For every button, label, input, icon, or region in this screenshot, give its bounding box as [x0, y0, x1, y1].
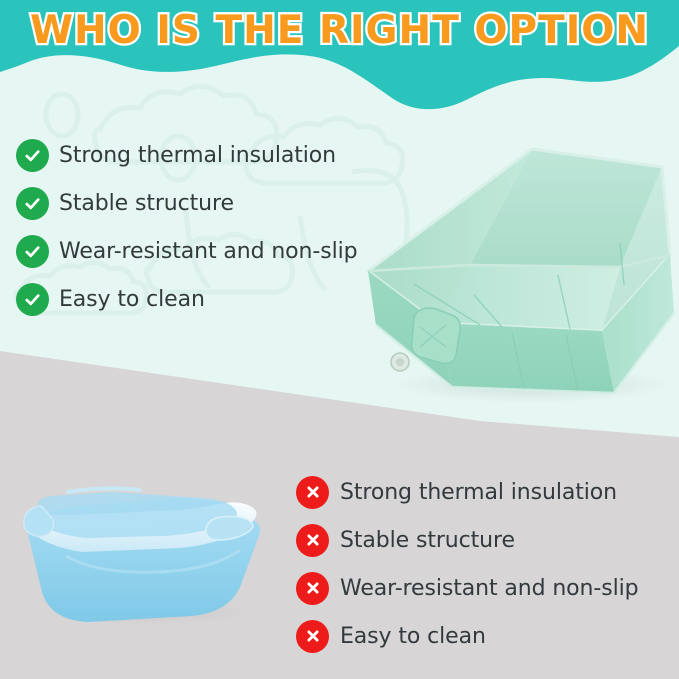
comparison-infographic: WHO IS THE RIGHT OPTION Strong thermal i…: [0, 0, 679, 679]
check-circle-icon: [16, 139, 49, 172]
bad-feature-list: Strong thermal insulation Stable structu…: [296, 468, 676, 660]
good-feature-list: Strong thermal insulation Stable structu…: [16, 131, 366, 323]
list-item-label: Easy to clean: [340, 624, 486, 649]
list-item-label: Wear-resistant and non-slip: [59, 239, 357, 264]
page-title: WHO IS THE RIGHT OPTION: [0, 8, 679, 53]
list-item: Strong thermal insulation: [296, 468, 676, 516]
check-circle-icon: [16, 187, 49, 220]
list-item-label: Strong thermal insulation: [59, 143, 336, 168]
list-item-label: Wear-resistant and non-slip: [340, 576, 638, 601]
check-circle-icon: [16, 235, 49, 268]
x-circle-icon: [296, 620, 329, 653]
list-item: Easy to clean: [296, 612, 676, 660]
list-item-label: Easy to clean: [59, 287, 205, 312]
x-circle-icon: [296, 476, 329, 509]
list-item-label: Strong thermal insulation: [340, 480, 617, 505]
list-item: Strong thermal insulation: [16, 131, 366, 179]
list-item-label: Stable structure: [59, 191, 234, 216]
list-item: Stable structure: [16, 179, 366, 227]
list-item: Stable structure: [296, 516, 676, 564]
list-item: Wear-resistant and non-slip: [16, 227, 366, 275]
list-item: Easy to clean: [16, 275, 366, 323]
list-item-label: Stable structure: [340, 528, 515, 553]
check-circle-icon: [16, 283, 49, 316]
x-circle-icon: [296, 524, 329, 557]
mint-foldable-storage-bin-image: [352, 135, 679, 415]
x-circle-icon: [296, 572, 329, 605]
blue-plastic-baby-bathtub-image: [10, 470, 275, 630]
list-item: Wear-resistant and non-slip: [296, 564, 676, 612]
